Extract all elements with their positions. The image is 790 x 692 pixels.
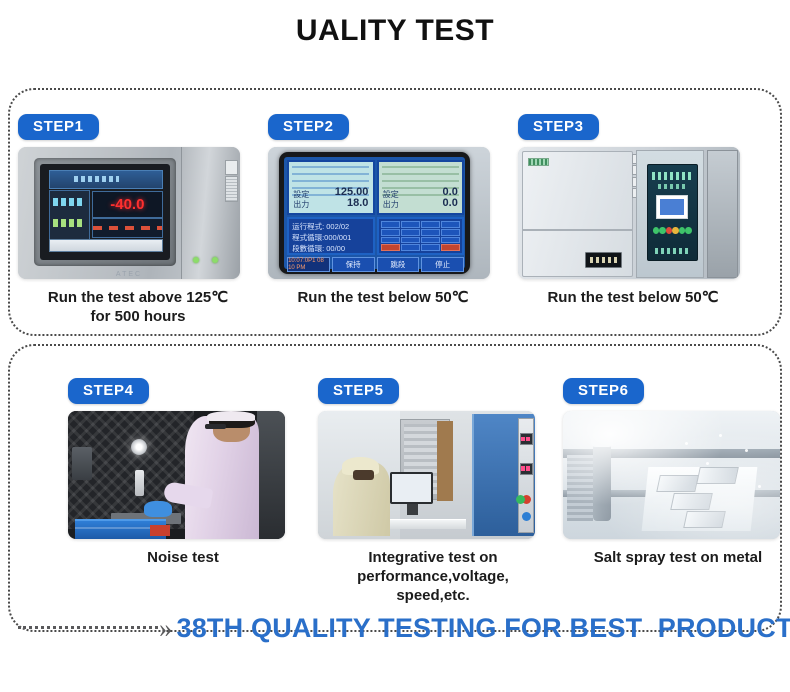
step-card-5[interactable]: STEP5 Integrative test on performance,vo… (318, 378, 548, 606)
right-set-value: 0.0 0.0 (443, 187, 458, 210)
computer-monitor (390, 472, 433, 504)
technician-neck (353, 470, 375, 480)
digital-meter-mid (520, 463, 533, 475)
right-trend-cell: 設定出力 0.0 0.0 (377, 160, 464, 215)
test-equipment-rack (472, 414, 535, 537)
step-card-1[interactable]: STEP1 -40.0 ATEC Run the test above 125℃… (18, 114, 258, 326)
program-status-text: 运行程式: 002/02 程式循環:000/001 段數循環: 00/00 剩餘… (292, 222, 369, 250)
step-badge-2[interactable]: STEP2 (268, 114, 349, 140)
controller-bezel: -40.0 (34, 158, 176, 266)
page-title: UALITY TEST (0, 14, 790, 48)
step-card-6[interactable]: STEP6 Salt spray test on metal (563, 378, 790, 567)
clock-display: 10:07:0P1 08 10 PM (287, 257, 330, 272)
chamber-pillar (257, 411, 285, 539)
monitor-stand (407, 504, 418, 514)
step-card-4[interactable]: STEP4 Noise test (68, 378, 298, 567)
step-badge-6[interactable]: STEP6 (563, 378, 644, 404)
step-badge-4[interactable]: STEP4 (68, 378, 149, 404)
controller-touchscreen: 設定出力 125.00 18.0 設定出力 0.0 0.0 (284, 157, 465, 268)
green-knob[interactable] (516, 495, 525, 504)
test-lamp (131, 439, 147, 455)
digital-meter-top (520, 433, 533, 445)
step-caption-3: Run the test below 50℃ (518, 288, 748, 307)
chamber-digital-display (585, 252, 623, 269)
step-caption-1: Run the test above 125℃ for 500 hours (18, 288, 258, 326)
controller-side-module (181, 147, 240, 279)
step-caption-4: Noise test (68, 548, 298, 567)
noise-test-photo (68, 411, 285, 539)
temperature-readout: -40.0 (92, 191, 164, 217)
chamber-vent (528, 158, 550, 166)
left-set-value: 125.00 18.0 (335, 187, 369, 210)
left-set-label: 設定出力 (293, 190, 309, 210)
controller-brand-label: ATEC (18, 271, 240, 278)
step-caption-5: Integrative test on performance,voltage,… (318, 548, 548, 606)
banner-headline: 38TH QUALITY TESTING FOR BEST PRODUCTS (177, 613, 790, 644)
microphone (135, 470, 144, 496)
stop-button[interactable]: 停止 (421, 257, 464, 272)
chamber-indicator-leds (653, 225, 692, 235)
left-trend-cell: 設定出力 125.00 18.0 (287, 160, 374, 215)
salt-mist-overlay (563, 411, 780, 539)
integrative-test-photo (318, 411, 535, 539)
technician-glasses (205, 424, 227, 429)
technician-cap (207, 411, 255, 421)
skip-button[interactable]: 跳段 (377, 257, 420, 272)
climate-chamber-photo (518, 147, 740, 279)
chamber-panel-screen (656, 195, 688, 220)
controller-screen: -40.0 (40, 164, 170, 260)
dotted-leader-line (18, 626, 158, 631)
chamber-rail (72, 447, 92, 480)
controller-housing: 設定出力 125.00 18.0 設定出力 0.0 0.0 (279, 152, 470, 273)
chamber-control-panel[interactable] (647, 164, 698, 261)
keypad-cell[interactable] (377, 217, 464, 255)
temperature-controller-photo: -40.0 ATEC (18, 147, 240, 279)
chamber-side-cabinet (707, 150, 738, 279)
step-badge-1[interactable]: STEP1 (18, 114, 99, 140)
controller-button-bar[interactable]: 10:07:0P1 08 10 PM 保持 跳段 停止 (287, 257, 464, 270)
step-card-2[interactable]: STEP2 設定出力 125.00 18.0 設定出力 0.0 (268, 114, 498, 307)
program-status-cell: 运行程式: 002/02 程式循環:000/001 段數循環: 00/00 剩餘… (287, 217, 374, 255)
step-card-3[interactable]: STEP3 Run the test below (518, 114, 748, 307)
step-badge-3[interactable]: STEP3 (518, 114, 599, 140)
double-chevron-icon: » (159, 615, 169, 642)
step-caption-2: Run the test below 50℃ (268, 288, 498, 307)
blue-glove (144, 501, 172, 518)
hold-button[interactable]: 保持 (332, 257, 375, 272)
program-controller-photo: 設定出力 125.00 18.0 設定出力 0.0 0.0 (268, 147, 490, 279)
salt-spray-test-photo (563, 411, 780, 539)
red-part-box (150, 525, 170, 537)
step-badge-5[interactable]: STEP5 (318, 378, 399, 404)
wood-panel (437, 421, 452, 500)
right-set-label: 設定出力 (383, 190, 399, 210)
bottom-banner: » 38TH QUALITY TESTING FOR BEST PRODUCTS (8, 606, 788, 650)
step-caption-6: Salt spray test on metal (563, 548, 790, 567)
